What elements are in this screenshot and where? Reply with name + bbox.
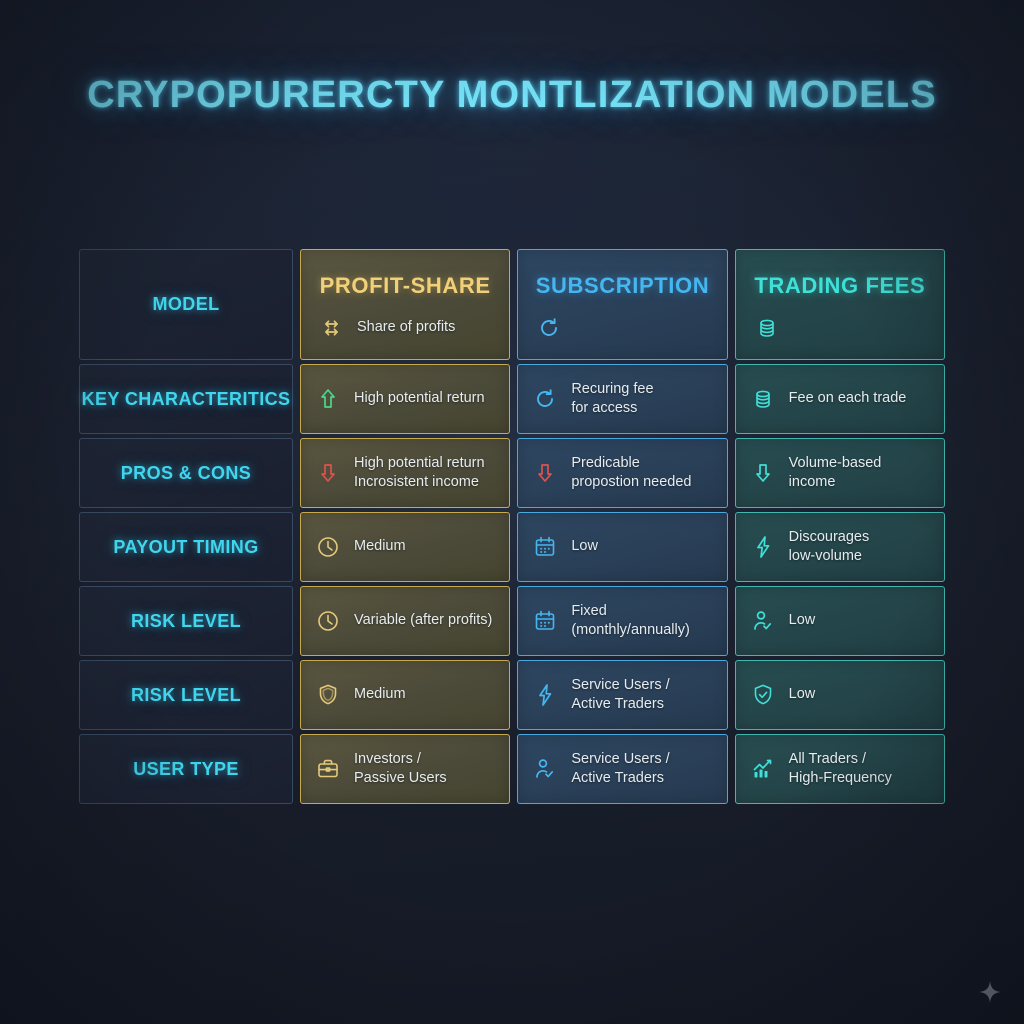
- column-title: SUBSCRIPTION: [532, 273, 712, 299]
- row-label: RISK LEVEL: [131, 685, 241, 706]
- cell-subscription-key-characteristics: Recuring fee for access: [517, 364, 727, 434]
- cell-text: Low: [789, 685, 816, 704]
- cell-profit-share-payout-timing: Medium: [300, 512, 510, 582]
- cell-profit-share-risk-level-1: Variable (after profits): [300, 586, 510, 656]
- cell-trading-fees-pros-cons: Volume-based income: [735, 438, 945, 508]
- cell-trading-fees-payout-timing: Discourages low-volume: [735, 512, 945, 582]
- cell-text: Fixed (monthly/annually): [571, 602, 689, 641]
- cell-text: Service Users / Active Traders: [571, 676, 669, 715]
- user-check-icon: [750, 608, 776, 634]
- swap-arrows-icon: [319, 315, 345, 341]
- header-cell-trading-fees: TRADING FEES: [735, 249, 945, 360]
- four-point-star-icon: [978, 980, 1002, 1004]
- infographic-canvas: CRYPOPURERCTY MONTLIZATION MODELS MODEL …: [0, 0, 1024, 1024]
- cell-trading-fees-user-type: All Traders / High-Frequency: [735, 734, 945, 804]
- cell-text: High potential return Incrosistent incom…: [354, 454, 485, 493]
- row-label-user-type: USER TYPE: [79, 734, 293, 804]
- column-subtitle: Share of profits: [357, 318, 455, 337]
- cell-subscription-payout-timing: Low: [517, 512, 727, 582]
- row-label: KEY CHARACTERITICS: [82, 389, 291, 410]
- cell-profit-share-user-type: Investors / Passive Users: [300, 734, 510, 804]
- row-label: PROS & CONS: [121, 463, 251, 484]
- cell-profit-share-key-characteristics: High potential return: [300, 364, 510, 434]
- clock-icon: [315, 534, 341, 560]
- row-label-key-characteristics: KEY CHARACTERITICS: [79, 364, 293, 434]
- coin-stack-icon: [754, 315, 780, 341]
- cell-text: All Traders / High-Frequency: [789, 750, 892, 789]
- user-check-icon: [532, 756, 558, 782]
- row-label-pros-cons: PROS & CONS: [79, 438, 293, 508]
- arrow-down-icon: [315, 460, 341, 486]
- cell-text: Service Users / Active Traders: [571, 750, 669, 789]
- cell-trading-fees-key-characteristics: Fee on each trade: [735, 364, 945, 434]
- cell-subscription-user-type: Service Users / Active Traders: [517, 734, 727, 804]
- bar-chart-icon: [750, 756, 776, 782]
- header-cell-subscription: SUBSCRIPTION: [517, 249, 727, 360]
- refresh-icon: [536, 315, 562, 341]
- header-cell-profit-share: PROFIT-SHARE Share of profits: [300, 249, 510, 360]
- arrow-down-icon: [750, 460, 776, 486]
- cell-text: Medium: [354, 537, 406, 556]
- row-label: RISK LEVEL: [131, 611, 241, 632]
- row-label-payout-timing: PAYOUT TIMING: [79, 512, 293, 582]
- shield-check-icon: [750, 682, 776, 708]
- shield-icon: [315, 682, 341, 708]
- comparison-table: MODEL PROFIT-SHARE Share of profits: [79, 249, 945, 804]
- briefcase-icon: [315, 756, 341, 782]
- cell-text: Variable (after profits): [354, 611, 492, 630]
- arrow-down-icon: [532, 460, 558, 486]
- cell-text: Recuring fee for access: [571, 380, 653, 419]
- arrow-up-icon: [315, 386, 341, 412]
- refresh-icon: [532, 386, 558, 412]
- cell-profit-share-pros-cons: High potential return Incrosistent incom…: [300, 438, 510, 508]
- cell-text: High potential return: [354, 389, 485, 408]
- cell-subscription-risk-level-2: Service Users / Active Traders: [517, 660, 727, 730]
- cell-profit-share-risk-level-2: Medium: [300, 660, 510, 730]
- coin-stack-icon: [750, 386, 776, 412]
- cell-text: Predicable propostion needed: [571, 454, 691, 493]
- header-cell-model: MODEL: [79, 249, 293, 360]
- clock-icon: [315, 608, 341, 634]
- page-title: CRYPOPURERCTY MONTLIZATION MODELS: [0, 74, 1024, 117]
- row-label: MODEL: [153, 294, 220, 315]
- cell-subscription-pros-cons: Predicable propostion needed: [517, 438, 727, 508]
- lightning-icon: [750, 534, 776, 560]
- cell-text: Low: [789, 611, 816, 630]
- cell-subscription-risk-level-1: Fixed (monthly/annually): [517, 586, 727, 656]
- cell-text: Volume-based income: [789, 454, 882, 493]
- cell-text: Medium: [354, 685, 406, 704]
- lightning-icon: [532, 682, 558, 708]
- calendar-icon: [532, 608, 558, 634]
- calendar-icon: [532, 534, 558, 560]
- row-label: USER TYPE: [133, 759, 239, 780]
- cell-text: Investors / Passive Users: [354, 750, 447, 789]
- column-title: PROFIT-SHARE: [315, 273, 495, 299]
- cell-trading-fees-risk-level-2: Low: [735, 660, 945, 730]
- row-label: PAYOUT TIMING: [113, 537, 258, 558]
- cell-text: Fee on each trade: [789, 389, 907, 408]
- cell-trading-fees-risk-level-1: Low: [735, 586, 945, 656]
- column-title: TRADING FEES: [750, 273, 930, 299]
- cell-text: Low: [571, 537, 598, 556]
- row-label-risk-level-2: RISK LEVEL: [79, 660, 293, 730]
- row-label-risk-level-1: RISK LEVEL: [79, 586, 293, 656]
- cell-text: Discourages low-volume: [789, 528, 870, 567]
